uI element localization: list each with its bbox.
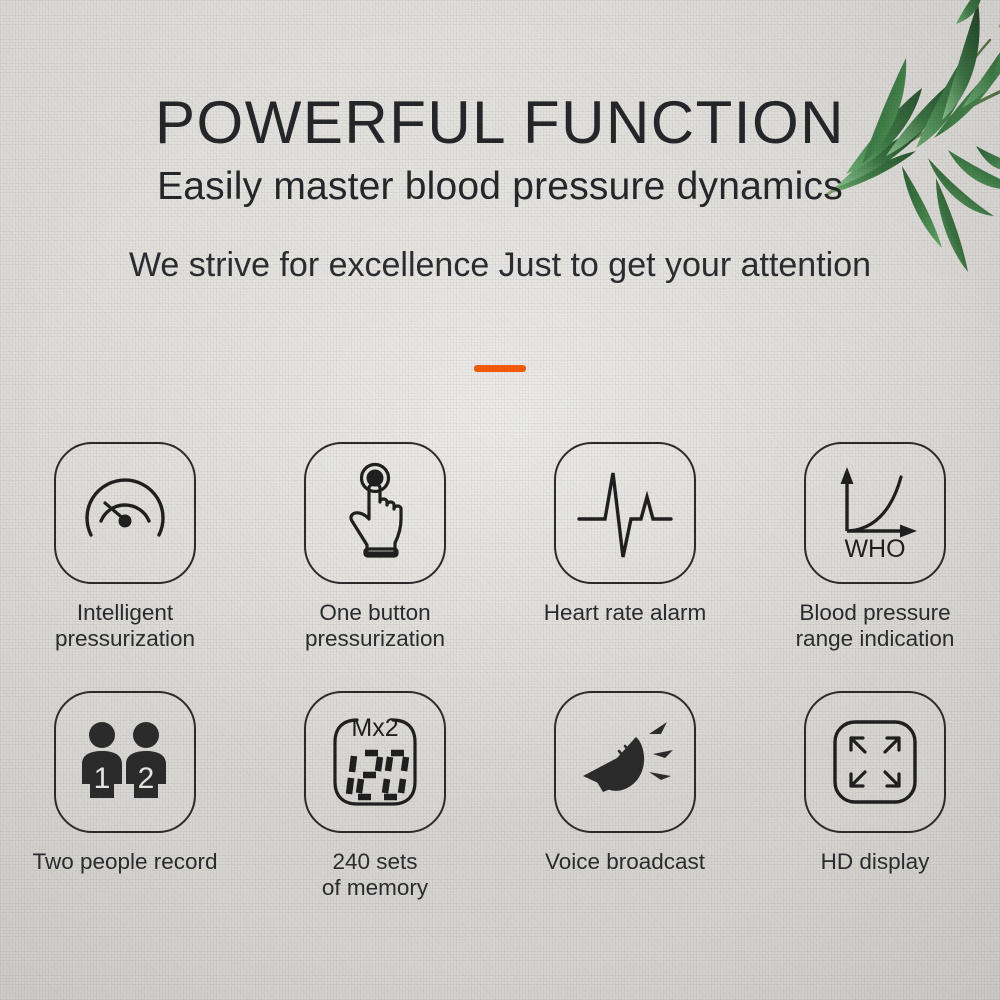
feature-label: HD display xyxy=(821,849,930,875)
feature-icon-tile xyxy=(54,442,196,584)
memory-display-icon: Mx2 xyxy=(323,710,427,814)
page-title: POWERFUL FUNCTION xyxy=(0,88,1000,158)
feature-intelligent-pressurization[interactable]: Intelligent pressurization xyxy=(0,442,250,652)
feature-240-sets-memory[interactable]: Mx2 xyxy=(250,691,500,901)
feature-hd-display[interactable]: HD display xyxy=(750,691,1000,901)
feature-label: Voice broadcast xyxy=(545,849,705,875)
feature-icon-tile xyxy=(554,691,696,833)
feature-icon-tile xyxy=(304,442,446,584)
feature-label: Blood pressure range indication xyxy=(796,600,955,652)
gauge-icon xyxy=(73,461,177,565)
feature-label: 240 sets of memory xyxy=(322,849,428,901)
feature-icon-tile xyxy=(804,691,946,833)
tagline: We strive for excellence Just to get you… xyxy=(0,243,1000,287)
feature-row-2: 1 2 Two people record Mx2 xyxy=(0,691,1000,901)
feature-two-people-record[interactable]: 1 2 Two people record xyxy=(0,691,250,901)
feature-icon-tile: Mx2 xyxy=(304,691,446,833)
person-one-number: 1 xyxy=(94,762,111,795)
feature-row-1: Intelligent pressurization One button pr… xyxy=(0,442,1000,652)
feature-label: Two people record xyxy=(32,849,217,875)
memory-mode-label: Mx2 xyxy=(351,714,398,742)
ecg-heartbeat-icon xyxy=(571,461,679,565)
feature-grid: Intelligent pressurization One button pr… xyxy=(0,442,1000,901)
feature-icon-tile xyxy=(554,442,696,584)
feature-blood-pressure-range[interactable]: WHO Blood pressure range indication xyxy=(750,442,1000,652)
feature-heart-rate-alarm[interactable]: Heart rate alarm xyxy=(500,442,750,652)
feature-icon-tile: WHO xyxy=(804,442,946,584)
feature-label: One button pressurization xyxy=(305,600,445,652)
who-label: WHO xyxy=(844,535,905,563)
megaphone-icon xyxy=(573,710,677,814)
hd-display-icon xyxy=(823,710,927,814)
feature-label: Heart rate alarm xyxy=(544,600,707,626)
two-people-icon: 1 2 xyxy=(73,710,177,814)
feature-one-button-pressurization[interactable]: One button pressurization xyxy=(250,442,500,652)
feature-label: Intelligent pressurization xyxy=(55,600,195,652)
poster-canvas: POWERFUL FUNCTION Easily master blood pr… xyxy=(0,0,1000,1000)
page-subtitle: Easily master blood pressure dynamics xyxy=(0,162,1000,212)
feature-icon-tile: 1 2 xyxy=(54,691,196,833)
feature-voice-broadcast[interactable]: Voice broadcast xyxy=(500,691,750,901)
accent-divider xyxy=(474,365,526,372)
person-two-number: 2 xyxy=(138,762,155,795)
tap-hand-icon xyxy=(323,461,427,565)
memory-reading xyxy=(349,753,406,797)
who-chart-icon: WHO xyxy=(823,461,927,565)
